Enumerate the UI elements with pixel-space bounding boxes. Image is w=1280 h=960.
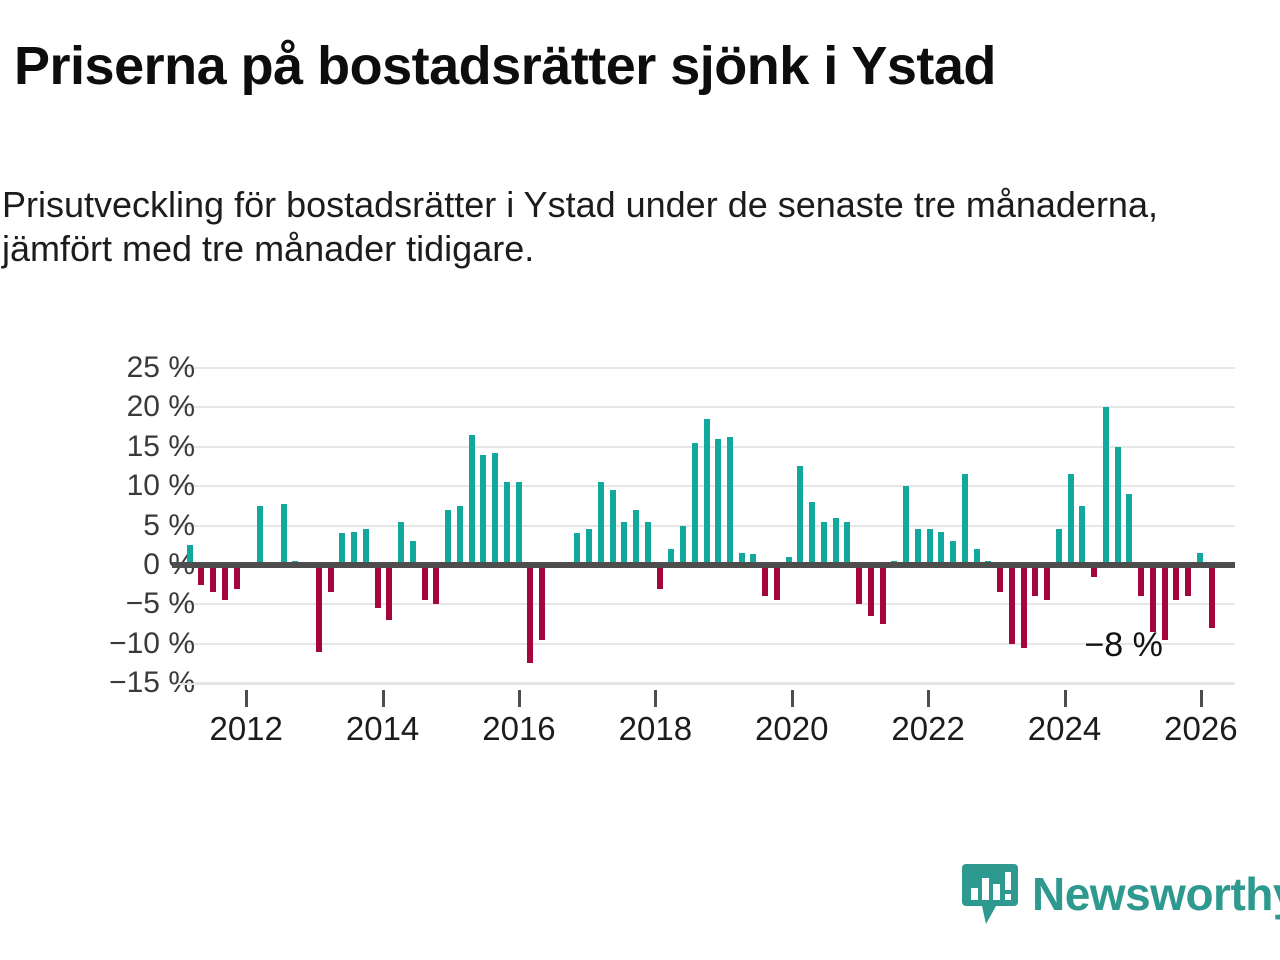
bar [692, 443, 698, 565]
x-axis-tick-mark [382, 690, 385, 707]
x-axis-tick-label: 2024 [1028, 710, 1101, 748]
bar [821, 522, 827, 565]
bar [774, 565, 780, 600]
bar [833, 518, 839, 565]
bar [504, 482, 510, 565]
bar [1032, 565, 1038, 597]
bar [457, 506, 463, 565]
y-axis-tick-label: 10 % [55, 469, 195, 503]
bar [422, 565, 428, 600]
page-title: Priserna på bostadsrätter sjönk i Ystad [14, 38, 1264, 95]
bar [762, 565, 768, 597]
bar [903, 486, 909, 565]
bar [633, 510, 639, 565]
x-axis-tick-mark [791, 690, 794, 707]
y-axis-tick-label: 5 % [55, 509, 195, 543]
bar [1115, 447, 1121, 565]
bar [645, 522, 651, 565]
bar [339, 533, 345, 565]
newsworthy-logo[interactable]: Newsworthy [962, 862, 1280, 926]
bar [1209, 565, 1215, 628]
bar [1044, 565, 1050, 600]
bar [222, 565, 228, 600]
bar [962, 474, 968, 565]
bar-chart: 25 %20 %15 %10 %5 %0 %−5 %−10 %−15 % 201… [0, 340, 1280, 750]
bar [997, 565, 1003, 593]
bar [1056, 529, 1062, 564]
bar [574, 533, 580, 565]
x-axis-tick-mark [1200, 690, 1203, 707]
bar [680, 526, 686, 565]
bar [398, 522, 404, 565]
bar [715, 439, 721, 565]
x-axis-tick-mark [245, 690, 248, 707]
x-axis-tick-label: 2016 [482, 710, 555, 748]
bar [445, 510, 451, 565]
x-axis-tick-label: 2014 [346, 710, 419, 748]
bar-chart-speech-bubble-icon [962, 862, 1018, 926]
y-axis-tick-label: 25 % [55, 351, 195, 385]
x-axis-tick-label: 2022 [891, 710, 964, 748]
bar-series [178, 368, 1235, 683]
bar [1185, 565, 1191, 597]
bar [1009, 565, 1015, 644]
x-axis-tick-label: 2012 [209, 710, 282, 748]
bar [586, 529, 592, 564]
bar [234, 565, 240, 589]
bar [1150, 565, 1156, 632]
bar [492, 453, 498, 565]
bar [844, 522, 850, 565]
plot-area [178, 368, 1235, 683]
bar [480, 455, 486, 565]
bar [539, 565, 545, 640]
bar [598, 482, 604, 565]
bar [621, 522, 627, 565]
y-axis-tick-label: 15 % [55, 430, 195, 464]
bar [210, 565, 216, 593]
bar [704, 419, 710, 565]
bar [1079, 506, 1085, 565]
bar [375, 565, 381, 608]
bar [1126, 494, 1132, 565]
bar [868, 565, 874, 616]
logo-wordmark: Newsworthy [1032, 867, 1280, 921]
y-axis-tick-label: −15 % [55, 666, 195, 700]
bar [1021, 565, 1027, 648]
bar [938, 532, 944, 565]
x-axis-tick-label: 2018 [619, 710, 692, 748]
bar [1103, 407, 1109, 565]
bar [328, 565, 334, 593]
bar [316, 565, 322, 652]
x-axis-tick-mark [927, 690, 930, 707]
x-axis-tick-mark [654, 690, 657, 707]
y-axis-tick-label: −5 % [55, 587, 195, 621]
bar [516, 482, 522, 565]
bar [927, 529, 933, 564]
bar [610, 490, 616, 565]
y-axis-tick-label: −10 % [55, 627, 195, 661]
page-subtitle: Prisutveckling för bostadsrätter i Ystad… [2, 183, 1262, 271]
bar [527, 565, 533, 663]
bar [809, 502, 815, 565]
bar [351, 532, 357, 565]
bar [856, 565, 862, 604]
x-axis-tick-mark [518, 690, 521, 707]
bar [727, 437, 733, 565]
bar [657, 565, 663, 589]
bar [281, 504, 287, 565]
x-axis-tick-label: 2020 [755, 710, 828, 748]
y-axis-tick-label: 20 % [55, 390, 195, 424]
bar [797, 466, 803, 564]
bar [363, 529, 369, 564]
x-axis-line [178, 683, 1235, 685]
value-annotation: −8 % [1084, 626, 1162, 665]
bar [469, 435, 475, 565]
x-axis-tick-mark [1064, 690, 1067, 707]
bar [1173, 565, 1179, 600]
bar [386, 565, 392, 620]
bar [1138, 565, 1144, 597]
chart-page: Priserna på bostadsrätter sjönk i Ystad … [0, 0, 1280, 960]
zero-baseline [172, 562, 1235, 568]
bar [257, 506, 263, 565]
bar [1068, 474, 1074, 565]
bar [915, 529, 921, 564]
bar [433, 565, 439, 604]
bar [880, 565, 886, 624]
x-axis-tick-label: 2026 [1164, 710, 1237, 748]
